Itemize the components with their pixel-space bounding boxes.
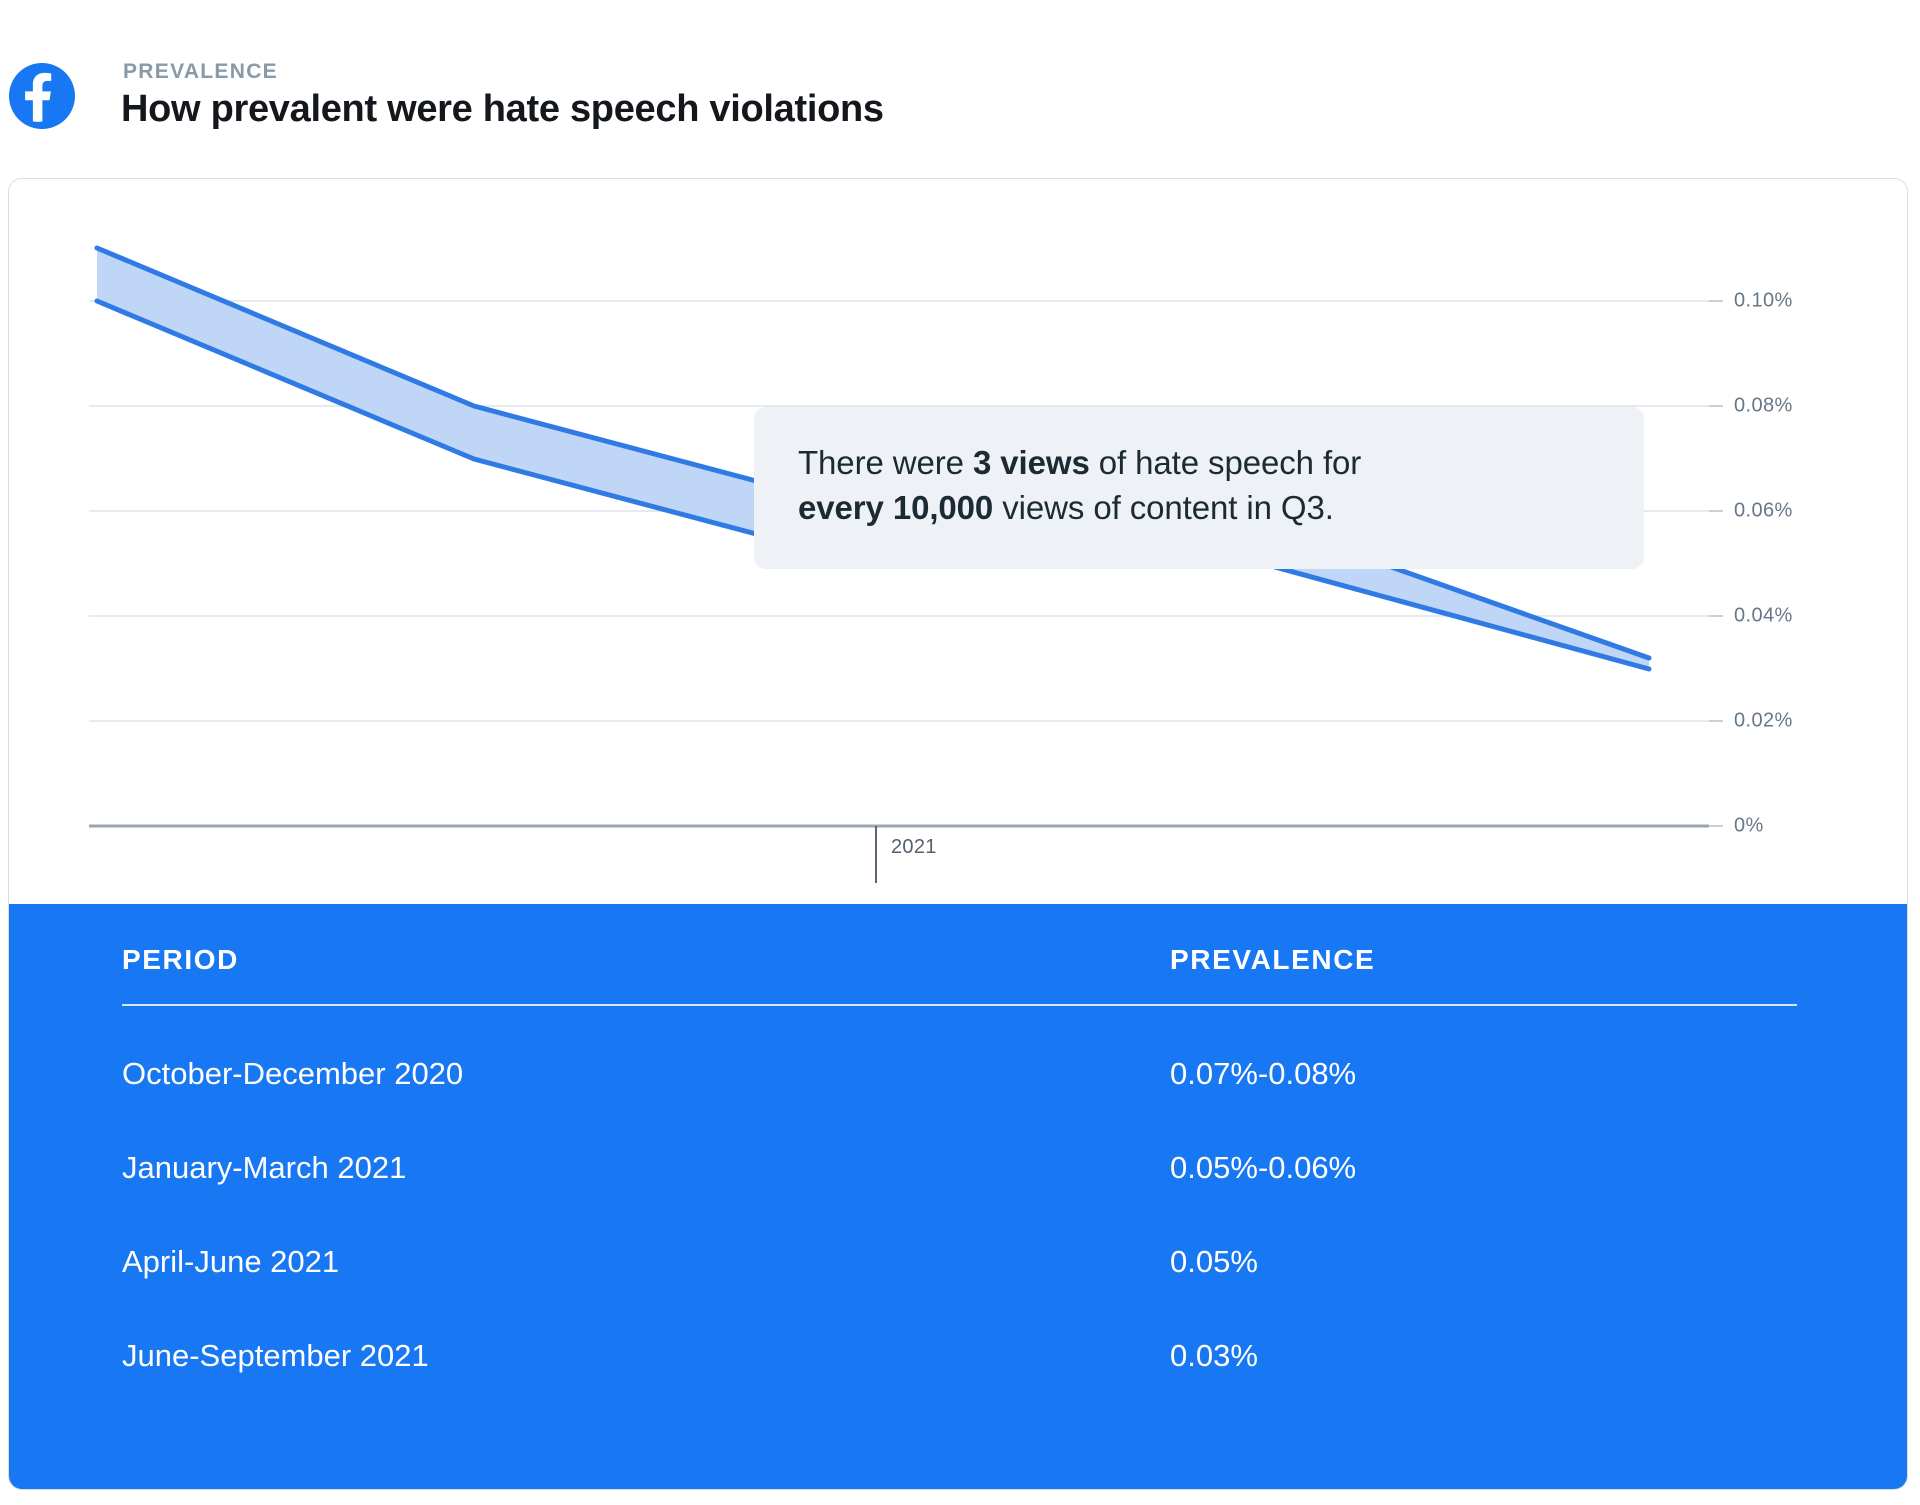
ytick-dash-1 xyxy=(1709,405,1723,407)
cell-period: April-June 2021 xyxy=(122,1244,339,1280)
cell-period: January-March 2021 xyxy=(122,1150,406,1186)
table-row: June-September 2021 0.03% xyxy=(122,1312,1797,1406)
table-body: October-December 2020 0.07%-0.08% Januar… xyxy=(122,1030,1797,1406)
xtick-label-2021: 2021 xyxy=(891,836,937,859)
callout-line2-post: views of content in Q3. xyxy=(993,489,1334,526)
column-header-prevalence: PREVALENCE xyxy=(1170,944,1375,976)
chart-callout: There were 3 views of hate speech for ev… xyxy=(754,407,1644,569)
cell-prevalence: 0.05%-0.06% xyxy=(1170,1150,1356,1186)
callout-line-2: every 10,000 views of content in Q3. xyxy=(798,486,1600,531)
chart-card: 0.10% 0.08% 0.06% 0.04% 0.02% 0% 2021 Th… xyxy=(8,178,1908,1490)
section-kicker: PREVALENCE xyxy=(123,60,278,84)
callout-line1-pre: There were xyxy=(798,444,973,481)
ytick-label-2: 0.06% xyxy=(1734,500,1793,523)
cell-period: June-September 2021 xyxy=(122,1338,429,1374)
ytick-label-1: 0.08% xyxy=(1734,395,1793,418)
table-row: October-December 2020 0.07%-0.08% xyxy=(122,1030,1797,1124)
facebook-logo-icon xyxy=(8,62,76,130)
ytick-dash-3 xyxy=(1709,615,1723,617)
ytick-label-0: 0.10% xyxy=(1734,290,1793,313)
ytick-label-5: 0% xyxy=(1734,815,1764,838)
page-title: How prevalent were hate speech violation… xyxy=(121,88,884,131)
column-header-period: PERIOD xyxy=(122,944,239,976)
page-header: PREVALENCE How prevalent were hate speec… xyxy=(0,50,1400,160)
ytick-label-3: 0.04% xyxy=(1734,605,1793,628)
prevalence-chart: 0.10% 0.08% 0.06% 0.04% 0.02% 0% 2021 Th… xyxy=(9,179,1908,904)
ytick-dash-0 xyxy=(1709,300,1723,302)
ytick-dash-4 xyxy=(1709,720,1723,722)
table-row: April-June 2021 0.05% xyxy=(122,1218,1797,1312)
cell-period: October-December 2020 xyxy=(122,1056,463,1092)
ytick-dash-2 xyxy=(1709,510,1723,512)
callout-line-1: There were 3 views of hate speech for xyxy=(798,441,1600,486)
ytick-dash-5 xyxy=(1709,825,1723,827)
table-header-row: PERIOD PREVALENCE xyxy=(122,904,1797,992)
callout-line2-bold: every 10,000 xyxy=(798,489,993,526)
table-header-divider xyxy=(122,1004,1797,1006)
xtick-rule-2021 xyxy=(875,826,877,883)
ytick-label-4: 0.02% xyxy=(1734,710,1793,733)
infographic-root: PREVALENCE How prevalent were hate speec… xyxy=(0,0,1920,1505)
callout-line1-bold: 3 views xyxy=(973,444,1090,481)
callout-line1-post: of hate speech for xyxy=(1090,444,1361,481)
cell-prevalence: 0.07%-0.08% xyxy=(1170,1056,1356,1092)
cell-prevalence: 0.03% xyxy=(1170,1338,1258,1374)
table-row: January-March 2021 0.05%-0.06% xyxy=(122,1124,1797,1218)
prevalence-table: PERIOD PREVALENCE October-December 2020 … xyxy=(9,904,1908,1490)
cell-prevalence: 0.05% xyxy=(1170,1244,1258,1280)
